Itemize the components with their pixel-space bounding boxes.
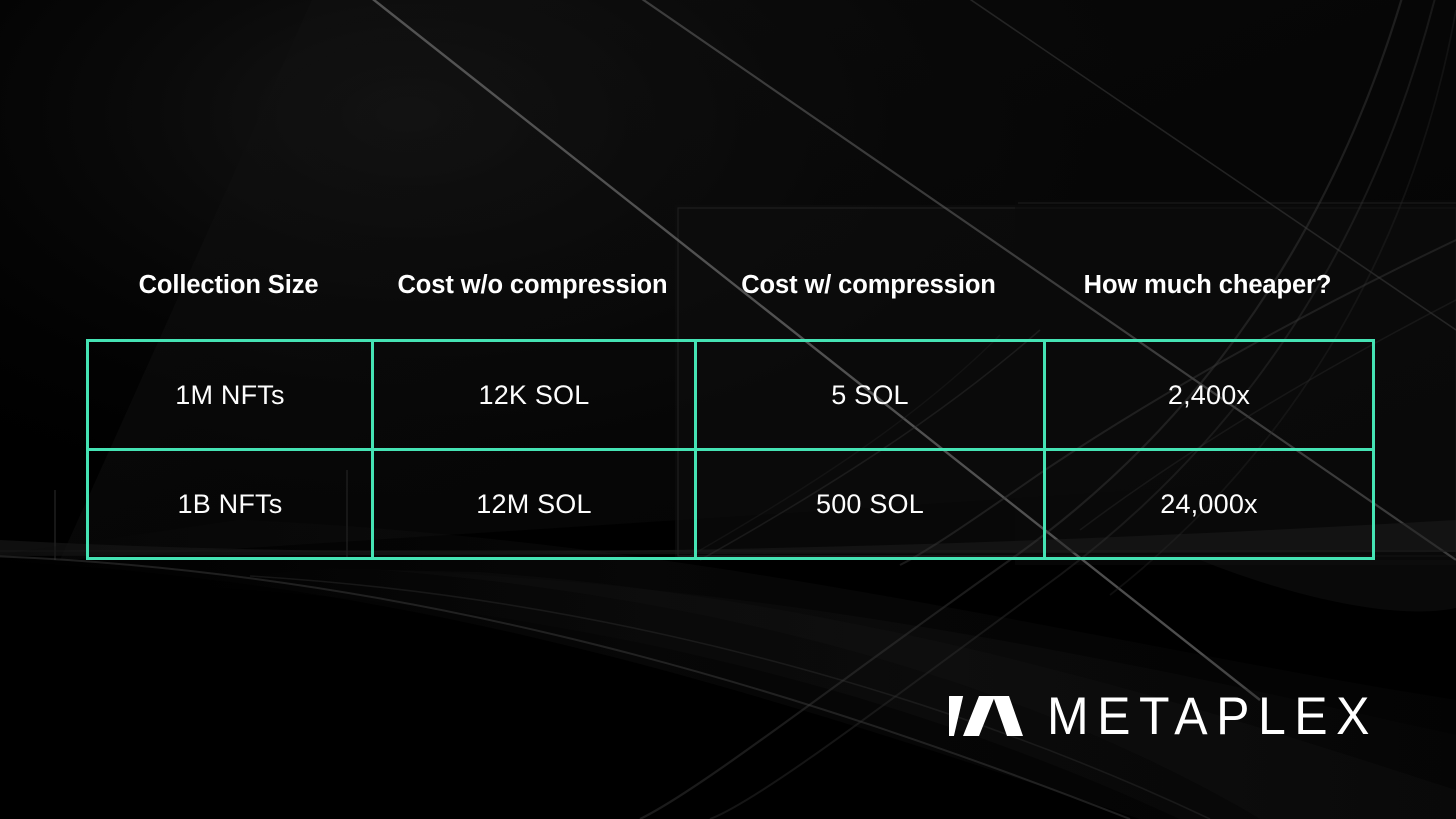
column-header-how-much-cheaper: How much cheaper? (1043, 232, 1372, 339)
column-header-cost-without-compression: Cost w/o compression (371, 232, 694, 339)
comparison-table: 1M NFTs 12K SOL 5 SOL 2,400x 1B NFTs 12M… (86, 339, 1375, 560)
cell-cost-with-compression: 5 SOL (696, 341, 1045, 450)
table-row: 1M NFTs 12K SOL 5 SOL 2,400x (88, 341, 1374, 450)
cell-cost-without-compression: 12M SOL (373, 450, 696, 559)
cell-cost-with-compression: 500 SOL (696, 450, 1045, 559)
brand-logo: METAPLEX (949, 688, 1378, 744)
brand-wordmark: METAPLEX (1047, 690, 1378, 743)
cell-cost-without-compression: 12K SOL (373, 341, 696, 450)
table-header-row: Collection Size Cost w/o compression Cos… (86, 232, 1372, 339)
table-row: 1B NFTs 12M SOL 500 SOL 24,000x (88, 450, 1374, 559)
cell-how-much-cheaper: 24,000x (1045, 450, 1374, 559)
cell-collection-size: 1M NFTs (88, 341, 373, 450)
metaplex-m-mark (949, 688, 1023, 744)
cell-collection-size: 1B NFTs (88, 450, 373, 559)
slide-canvas: Collection Size Cost w/o compression Cos… (0, 0, 1456, 819)
column-header-collection-size: Collection Size (86, 232, 371, 339)
column-header-cost-with-compression: Cost w/ compression (694, 232, 1043, 339)
cell-how-much-cheaper: 2,400x (1045, 341, 1374, 450)
